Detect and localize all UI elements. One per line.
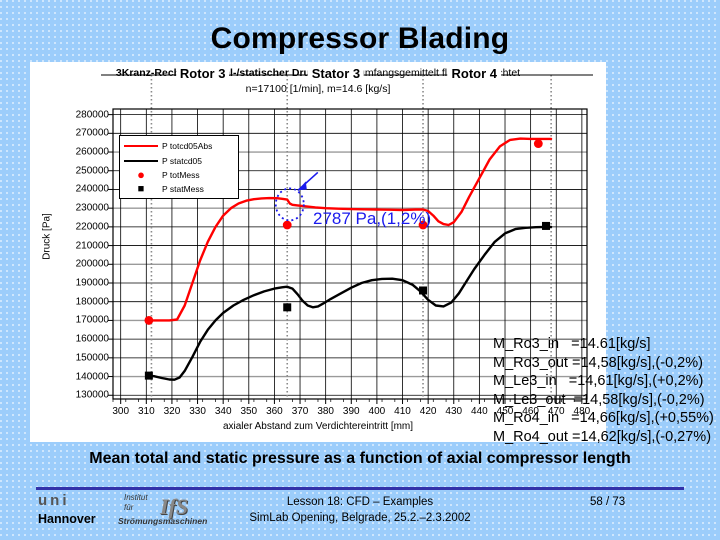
legend-item-2: ● P totMess	[124, 168, 200, 182]
massflow-row: M_Ro3_in =14.61[kg/s]	[493, 335, 714, 354]
x-tick-label: 380	[317, 406, 334, 417]
footer-line-2: SimLab Opening, Belgrade, 25.2.–2.3.2002	[0, 510, 720, 526]
section-label: Rotor 3	[176, 66, 230, 81]
massflow-row: M_Ro4_out =14,62[kg/s],(-0,27%)	[493, 428, 714, 447]
y-tick-label: 130000	[76, 390, 109, 401]
massflow-row: M_Ro4_in =14,66[kg/s],(+0,55%)	[493, 409, 714, 428]
chart-annotation-label: 2787 Pa,(1,2%)	[313, 209, 431, 229]
x-tick-label: 420	[420, 406, 437, 417]
x-tick-label: 400	[369, 406, 386, 417]
section-label: Rotor 4	[448, 66, 502, 81]
legend-item-3: ■ P statMess	[124, 182, 204, 196]
legend-label: P statcd05	[162, 156, 202, 166]
massflow-row: M_Le3_in =14,61[kg/s],(+0,2%)	[493, 372, 714, 391]
x-tick-label: 390	[343, 406, 360, 417]
legend-circle-marker-icon: ●	[124, 171, 158, 179]
x-tick-label: 430	[445, 406, 462, 417]
section-label: Stator 3	[308, 66, 364, 81]
y-tick-label: 280000	[76, 109, 109, 120]
y-tick-label: 250000	[76, 165, 109, 176]
legend-square-marker-icon: ■	[124, 185, 158, 193]
y-tick-label: 190000	[76, 278, 109, 289]
slide-title: Compressor Blading	[0, 22, 720, 56]
slide-caption: Mean total and static pressure as a func…	[0, 450, 720, 468]
y-tick-label: 180000	[76, 296, 109, 307]
x-tick-label: 360	[266, 406, 283, 417]
footer-page-number: 58 / 73	[590, 496, 625, 508]
x-tick-label: 410	[394, 406, 411, 417]
legend-line-icon	[124, 145, 158, 147]
legend-label: P totcd05Abs	[162, 141, 212, 151]
chart-panel: 3Kranz-Rechnung Total-/statischer Druckv…	[30, 62, 606, 442]
x-tick-label: 300	[112, 406, 129, 417]
legend-item-1: P statcd05	[124, 154, 202, 168]
y-tick-label: 160000	[76, 334, 109, 345]
chart-legend: P totcd05Abs P statcd05 ● P totMess ■ P …	[119, 135, 239, 199]
x-tick-label: 330	[189, 406, 206, 417]
x-tick-label: 440	[471, 406, 488, 417]
x-tick-label: 370	[292, 406, 309, 417]
x-tick-label: 340	[215, 406, 232, 417]
y-tick-label: 260000	[76, 147, 109, 158]
y-tick-label: 150000	[76, 352, 109, 363]
massflow-row: M_Ro3_out =14,58[kg/s],(-0,2%)	[493, 354, 714, 373]
y-tick-label: 210000	[76, 240, 109, 251]
legend-item-0: P totcd05Abs	[124, 139, 212, 153]
y-axis-title: Druck [Pa]	[42, 197, 53, 277]
massflow-table: M_Ro3_in =14.61[kg/s]M_Ro3_out =14,58[kg…	[493, 335, 714, 447]
y-tick-label: 240000	[76, 184, 109, 195]
legend-line-icon	[124, 160, 158, 162]
y-tick-label: 140000	[76, 371, 109, 382]
legend-label: P totMess	[162, 170, 200, 180]
legend-label: P statMess	[162, 184, 204, 194]
y-tick-label: 270000	[76, 128, 109, 139]
y-tick-label: 200000	[76, 259, 109, 270]
y-tick-label: 220000	[76, 221, 109, 232]
y-tick-label: 170000	[76, 315, 109, 326]
x-tick-label: 350	[240, 406, 257, 417]
footer-divider	[36, 487, 684, 490]
x-tick-label: 320	[164, 406, 181, 417]
massflow-row: M_Le3_out =14,58[kg/s],(-0,2%)	[493, 391, 714, 410]
y-tick-label: 230000	[76, 203, 109, 214]
x-tick-label: 310	[138, 406, 155, 417]
